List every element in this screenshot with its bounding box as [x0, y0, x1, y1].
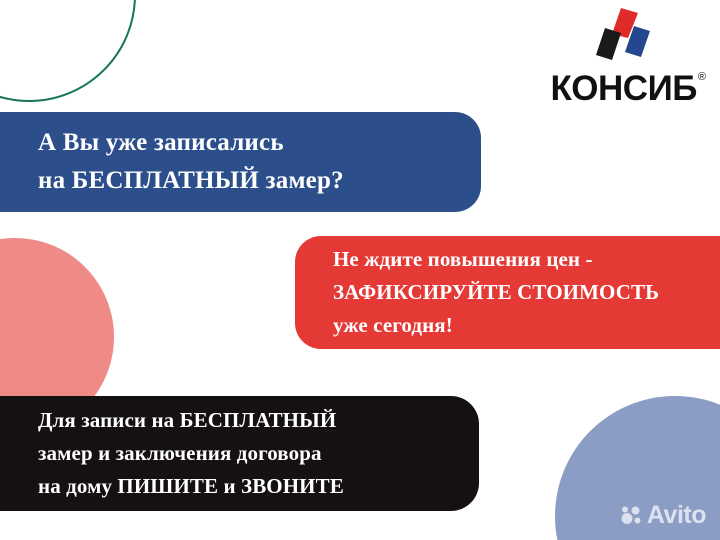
banner-black-line-2: замер и заключения договора: [38, 437, 479, 470]
banner-red-line-2: ЗАФИКСИРУЙТЕ СТОИМОСТЬ: [333, 276, 720, 309]
green-ring-decoration: [0, 0, 136, 102]
banner-black-line-1: Для записи на БЕСПЛАТНЫЙ: [38, 404, 479, 437]
avito-dots-icon: [621, 506, 643, 526]
avito-label: Avito: [647, 503, 706, 528]
banner-black-line-3: на дому ПИШИТЕ и ЗВОНИТЕ: [38, 470, 479, 503]
banner-red-line-1: Не ждите повышения цен -: [333, 243, 720, 276]
poster-canvas: КОНСИБ ® А Вы уже записались на БЕСПЛАТН…: [0, 0, 720, 540]
brand-logo: КОНСИБ ®: [536, 8, 706, 108]
banner-red-line-3: уже сегодня!: [333, 309, 720, 342]
banner-blue-line-2: на БЕСПЛАТНЫЙ замер?: [38, 162, 481, 200]
cta-banner-black: Для записи на БЕСПЛАТНЫЙ замер и заключе…: [0, 396, 479, 511]
konsib-logo-mark-icon: [588, 8, 650, 64]
brand-wordmark: КОНСИБ ®: [550, 71, 706, 106]
banner-blue-line-1: А Вы уже записались: [38, 124, 481, 162]
registered-trademark-symbol: ®: [698, 72, 706, 83]
brand-name: КОНСИБ: [550, 71, 696, 106]
headline-banner-blue: А Вы уже записались на БЕСПЛАТНЫЙ замер?: [0, 112, 481, 212]
offer-banner-red: Не ждите повышения цен - ЗАФИКСИРУЙТЕ СТ…: [295, 236, 720, 349]
avito-watermark: Avito: [621, 503, 706, 528]
